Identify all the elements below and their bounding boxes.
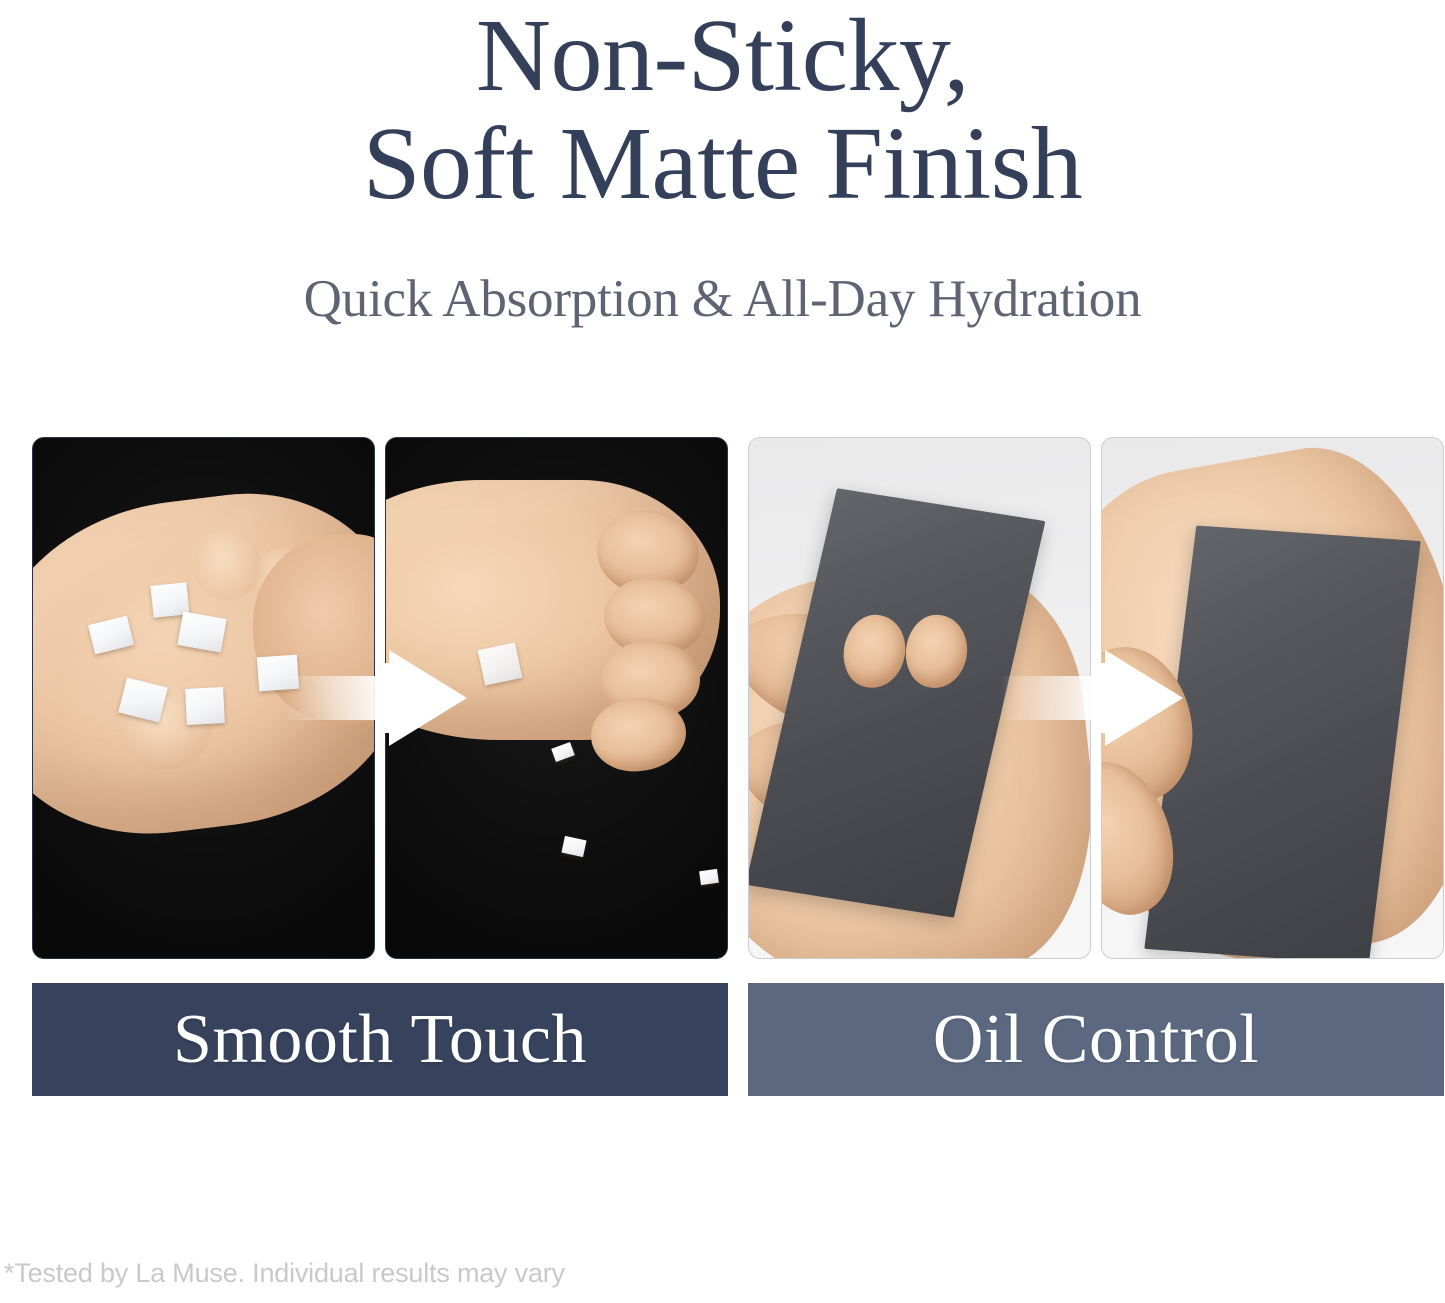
knuckle-shade <box>251 545 318 617</box>
comparison-oil-control: Oil Control <box>748 437 1444 1096</box>
paper-square <box>186 687 226 725</box>
photo-pair-smooth-touch <box>32 437 728 959</box>
paper-square <box>257 655 299 692</box>
photo-before-smooth-touch <box>32 437 375 959</box>
photo-after-smooth-touch <box>385 437 728 959</box>
caption-band-smooth-touch: Smooth Touch <box>32 983 728 1096</box>
knuckle-shade <box>189 525 265 605</box>
header-block: Non-Sticky, Soft Matte Finish Quick Abso… <box>0 0 1445 329</box>
caption-label: Smooth Touch <box>173 1005 587 1075</box>
headline-line-2: Soft Matte Finish <box>0 110 1445 218</box>
photo-pair-oil-control <box>748 437 1444 959</box>
disclaimer-footnote: *Tested by La Muse. Individual results m… <box>4 1258 565 1289</box>
page-title: Non-Sticky, Soft Matte Finish <box>0 0 1445 218</box>
caption-label: Oil Control <box>933 1005 1259 1075</box>
paper-square <box>177 611 226 652</box>
headline-line-1: Non-Sticky, <box>0 2 1445 110</box>
comparison-smooth-touch: Smooth Touch <box>32 437 728 1096</box>
paper-square-falling <box>699 868 719 884</box>
caption-band-oil-control: Oil Control <box>748 983 1444 1096</box>
photo-before-oil-control <box>748 437 1091 959</box>
page-subtitle: Quick Absorption & All-Day Hydration <box>0 218 1445 328</box>
photo-after-oil-control <box>1101 437 1444 959</box>
